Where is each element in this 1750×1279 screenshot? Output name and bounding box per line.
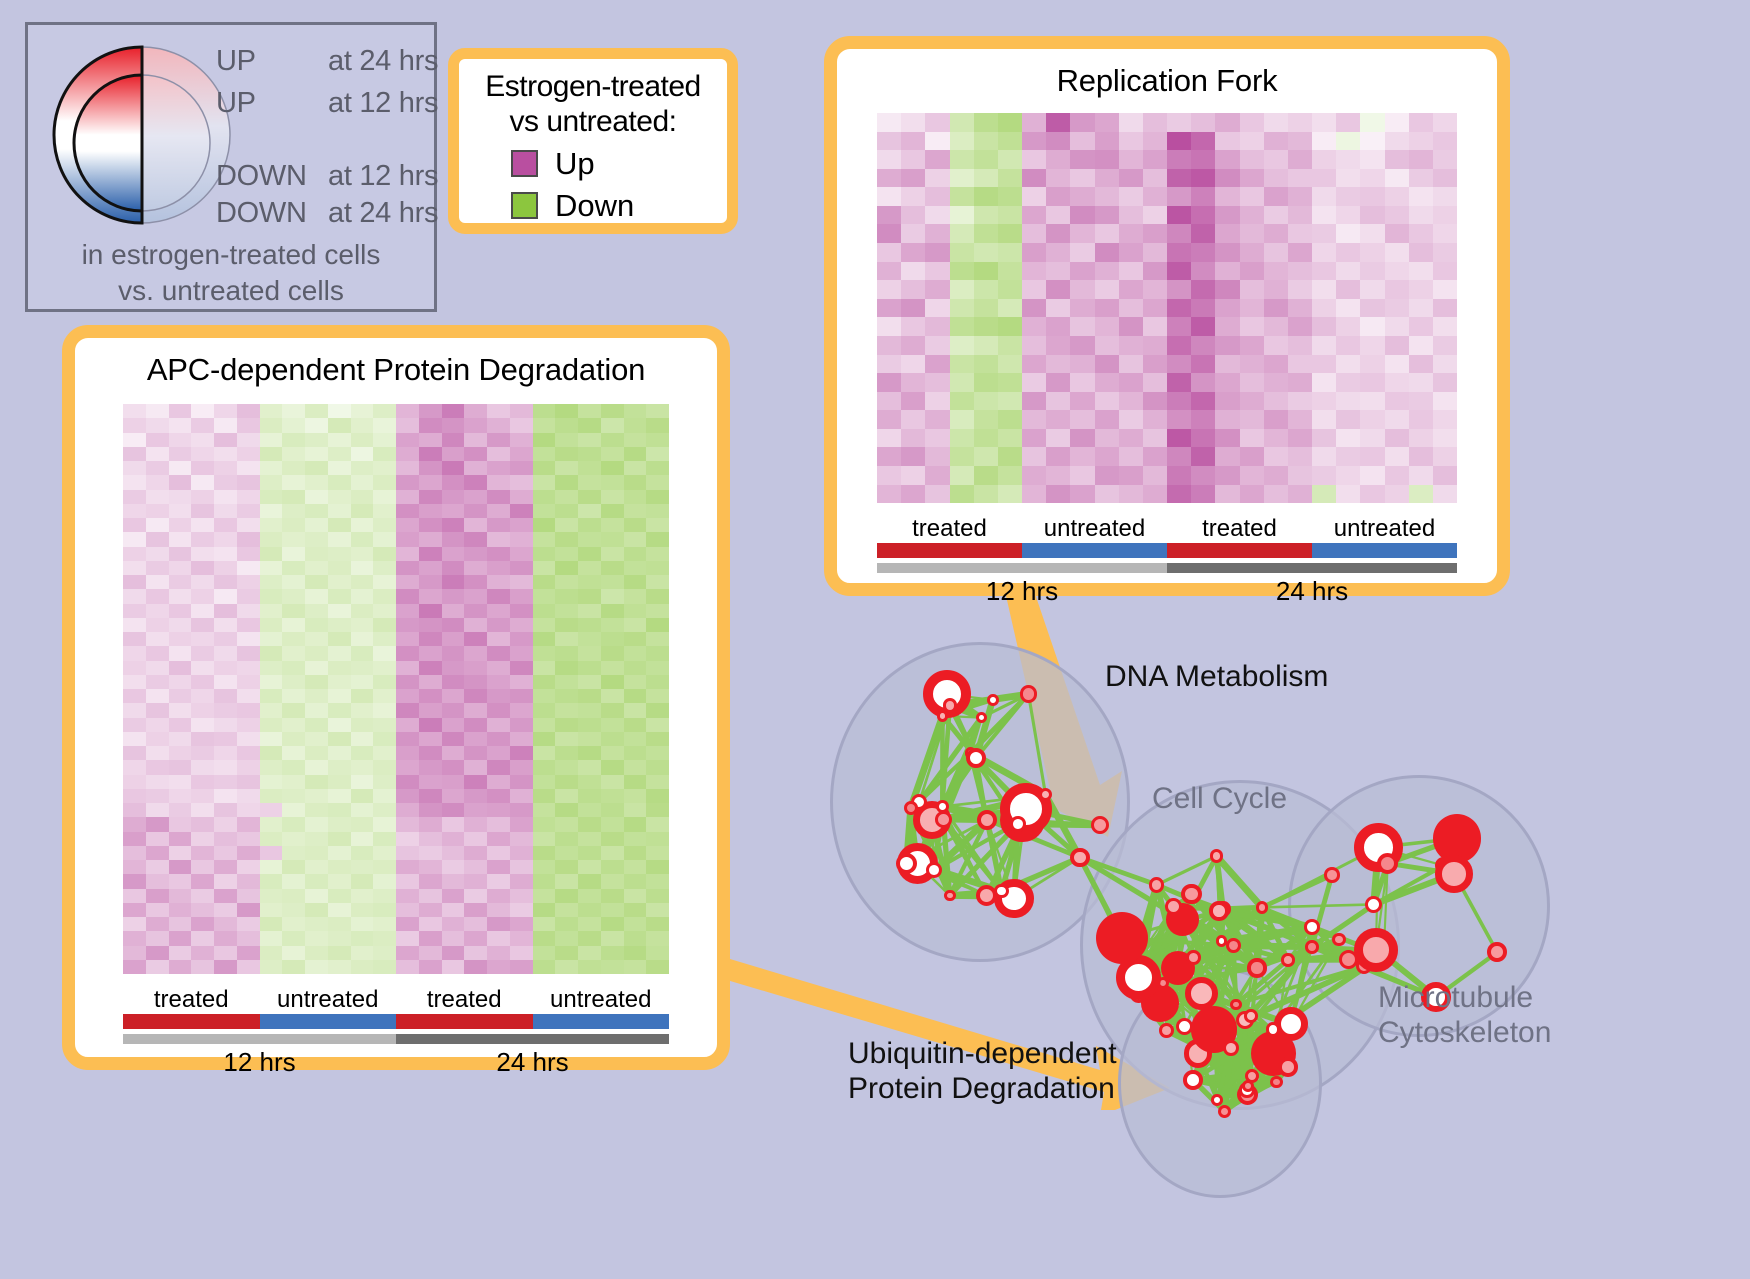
heatmap-cell <box>260 561 283 575</box>
heatmap-cell <box>555 618 578 632</box>
heatmap-cell <box>464 931 487 945</box>
heatmap-cell <box>146 689 169 703</box>
heatmap-cell <box>510 589 533 603</box>
heatmap-cell <box>1336 280 1360 299</box>
network-node[interactable] <box>1281 953 1294 966</box>
heatmap-cell <box>237 632 260 646</box>
heatmap-cell <box>1167 392 1191 411</box>
heatmap-cell <box>1288 373 1312 392</box>
heatmap-cell <box>1288 485 1312 504</box>
heatmap-cell <box>396 903 419 917</box>
heatmap-cell <box>1046 150 1070 169</box>
heatmap-cell <box>1240 262 1264 281</box>
network-node[interactable] <box>1149 877 1164 892</box>
heatmap-cell <box>1240 299 1264 318</box>
heatmap-cell <box>464 775 487 789</box>
heatmap-cell <box>1167 336 1191 355</box>
heatmap-cell <box>487 632 510 646</box>
heatmap-cell <box>533 589 556 603</box>
heatmap-cell <box>925 132 949 151</box>
condition-bar-segment <box>260 1014 397 1029</box>
network-node[interactable] <box>1256 901 1269 914</box>
heatmap-cell <box>1409 317 1433 336</box>
network-node[interactable] <box>1242 1080 1254 1092</box>
condition-label: untreated <box>1312 515 1457 543</box>
heatmap-cell <box>305 661 328 675</box>
heatmap-cell <box>1288 262 1312 281</box>
heatmap-cell <box>146 775 169 789</box>
heatmap-cell <box>1288 355 1312 374</box>
network-node[interactable] <box>935 811 952 828</box>
heatmap-cell <box>260 917 283 931</box>
heatmap-cell <box>1215 150 1239 169</box>
heatmap-cell <box>1022 187 1046 206</box>
heatmap-cell <box>123 889 146 903</box>
heatmap-cell <box>328 732 351 746</box>
network-node[interactable] <box>1010 816 1026 832</box>
timepoint-bar-segment <box>123 1034 396 1044</box>
network-node[interactable] <box>1435 855 1473 893</box>
heatmap-cell <box>646 860 669 874</box>
heatmap-cell <box>1360 169 1384 188</box>
heatmap-cell <box>328 746 351 760</box>
condition-labels-replication-fork: treated untreated treated untreated <box>877 515 1457 543</box>
heatmap-cell <box>442 675 465 689</box>
heatmap-row <box>123 760 669 774</box>
heatmap-cell <box>1240 187 1264 206</box>
heatmap-cell <box>396 433 419 447</box>
heatmap-cell <box>419 504 442 518</box>
network-node[interactable] <box>1226 938 1241 953</box>
heatmap-cell <box>624 433 647 447</box>
network-node[interactable] <box>1270 1076 1282 1088</box>
heatmap-cell <box>351 632 374 646</box>
heatmap-cell <box>1215 299 1239 318</box>
heatmap-cell <box>464 547 487 561</box>
heatmap-cell <box>260 889 283 903</box>
heatmap-cell <box>169 661 192 675</box>
heatmap-cell <box>237 461 260 475</box>
network-node[interactable] <box>1159 1023 1174 1038</box>
heatmap-cell <box>373 433 396 447</box>
timepoint-label: 12 hrs <box>123 1047 396 1078</box>
heatmap-cell <box>214 874 237 888</box>
heatmap-cell <box>328 604 351 618</box>
heatmap-cell <box>901 243 925 262</box>
heatmap-cell <box>237 504 260 518</box>
heatmap-cell <box>974 262 998 281</box>
heatmap-cell <box>974 392 998 411</box>
heatmap-cell <box>191 518 214 532</box>
heatmap-cell <box>282 504 305 518</box>
heatmap-cell <box>487 917 510 931</box>
ring-diagram <box>50 43 235 228</box>
heatmap-cell <box>191 632 214 646</box>
heatmap-cell <box>555 960 578 974</box>
heatmap-cell <box>123 832 146 846</box>
heatmap-cell <box>1215 355 1239 374</box>
network-node[interactable] <box>1230 999 1241 1010</box>
heatmap-cell <box>877 466 901 485</box>
heatmap-cell <box>442 504 465 518</box>
network-node[interactable] <box>1070 848 1090 868</box>
heatmap-cell <box>877 447 901 466</box>
heatmap-row <box>123 504 669 518</box>
condition-bar-segment <box>1167 543 1312 558</box>
heatmap-row <box>123 675 669 689</box>
heatmap-cell <box>442 646 465 660</box>
heatmap-cell <box>1022 243 1046 262</box>
heatmap-cell <box>396 689 419 703</box>
key-footer-line2: vs. untreated cells <box>28 273 434 309</box>
heatmap-row <box>877 317 1457 336</box>
heatmap-cell <box>533 433 556 447</box>
heatmap-cell <box>1312 243 1336 262</box>
heatmap-cell <box>351 604 374 618</box>
heatmap-cell <box>1215 262 1239 281</box>
network-node[interactable] <box>1354 928 1398 972</box>
heatmap-cell <box>877 336 901 355</box>
panel-title-replication-fork: Replication Fork <box>837 63 1497 99</box>
heatmap-cell <box>646 931 669 945</box>
condition-label: treated <box>123 986 260 1014</box>
heatmap-cell <box>464 418 487 432</box>
heatmap-cell <box>601 461 624 475</box>
network-node[interactable] <box>976 712 987 723</box>
heatmap-cell <box>328 447 351 461</box>
heatmap-cell <box>533 846 556 860</box>
timepoint-label: 24 hrs <box>396 1047 669 1078</box>
heatmap-cell <box>1240 447 1264 466</box>
condition-label: treated <box>877 515 1022 543</box>
heatmap-cell <box>1167 299 1191 318</box>
heatmap-cell <box>533 518 556 532</box>
heatmap-cell <box>901 429 925 448</box>
heatmap-cell <box>396 860 419 874</box>
heatmap-cell <box>487 689 510 703</box>
heatmap-cell <box>1095 299 1119 318</box>
heatmap-cell <box>998 224 1022 243</box>
heatmap-cell <box>533 860 556 874</box>
heatmap-cell <box>419 732 442 746</box>
heatmap-cell <box>510 946 533 960</box>
heatmap-cell <box>282 689 305 703</box>
heatmap-cell <box>1143 485 1167 504</box>
heatmap-cell <box>442 589 465 603</box>
heatmap-cell <box>555 703 578 717</box>
heatmap-cell <box>237 903 260 917</box>
heatmap-cell <box>510 518 533 532</box>
network-node[interactable] <box>1211 1094 1223 1106</box>
heatmap-cell <box>123 903 146 917</box>
network-node[interactable] <box>1183 1070 1203 1090</box>
heatmap-cell <box>146 817 169 831</box>
heatmap-cell <box>328 803 351 817</box>
heatmap-cell <box>1312 485 1336 504</box>
heatmap-cell <box>214 832 237 846</box>
heatmap-cell <box>646 575 669 589</box>
heatmap-cell <box>305 404 328 418</box>
heatmap-cell <box>1385 410 1409 429</box>
network-node[interactable] <box>1247 958 1266 977</box>
timepoint-labels-apc: 12 hrs 24 hrs <box>123 1047 669 1078</box>
heatmap-cell <box>998 113 1022 132</box>
heatmap-cell <box>601 547 624 561</box>
heatmap-cell <box>925 187 949 206</box>
heatmap-cell <box>328 618 351 632</box>
heatmap-cell <box>1433 466 1457 485</box>
heatmap-cell <box>1119 355 1143 374</box>
heatmap-cell <box>351 931 374 945</box>
heatmap-cell <box>191 874 214 888</box>
heatmap-cell <box>601 846 624 860</box>
network-node[interactable] <box>1223 1040 1239 1056</box>
heatmap-cell <box>646 732 669 746</box>
network-node[interactable] <box>1091 816 1109 834</box>
network-node[interactable] <box>1244 1009 1258 1023</box>
timepoint-bar-segment <box>396 1034 669 1044</box>
heatmap-cell <box>214 703 237 717</box>
heatmap-cell <box>555 931 578 945</box>
heatmap-cell <box>1385 280 1409 299</box>
heatmap-cell <box>282 903 305 917</box>
heatmap-cell <box>1240 429 1264 448</box>
heatmap-cell <box>487 490 510 504</box>
heatmap-cell <box>419 461 442 475</box>
heatmap-cell <box>237 589 260 603</box>
heatmap-cell <box>1360 280 1384 299</box>
heatmap-cell <box>1070 317 1094 336</box>
heatmap-cell <box>282 447 305 461</box>
network-node[interactable] <box>1304 919 1320 935</box>
key-ring-label-3: DOWN <box>216 197 307 230</box>
heatmap-cell <box>646 718 669 732</box>
heatmap-cell <box>1143 187 1167 206</box>
heatmap-cell <box>533 404 556 418</box>
heatmap-cell <box>237 746 260 760</box>
heatmap-cell <box>487 547 510 561</box>
network-node[interactable] <box>1278 1057 1298 1077</box>
heatmap-cell <box>191 418 214 432</box>
heatmap-cell <box>1167 169 1191 188</box>
heatmap-cell <box>1215 280 1239 299</box>
heatmap-cell <box>578 703 601 717</box>
heatmap-row <box>877 447 1457 466</box>
heatmap-cell <box>510 846 533 860</box>
heatmap-cell <box>1070 187 1094 206</box>
heatmap-cell <box>169 760 192 774</box>
heatmap-cell <box>282 746 305 760</box>
heatmap-cell <box>578 746 601 760</box>
heatmap-cell <box>373 775 396 789</box>
heatmap-cell <box>1336 224 1360 243</box>
heatmap-cell <box>533 903 556 917</box>
heatmap-cell <box>624 646 647 660</box>
heatmap-cell <box>464 718 487 732</box>
heatmap-cell <box>1360 392 1384 411</box>
heatmap-row <box>877 485 1457 504</box>
heatmap-cell <box>305 917 328 931</box>
heatmap-cell <box>1360 447 1384 466</box>
heatmap-cell <box>1360 150 1384 169</box>
heatmap-cell <box>974 113 998 132</box>
network-node[interactable] <box>937 710 948 721</box>
heatmap-cell <box>646 604 669 618</box>
heatmap-cell <box>123 604 146 618</box>
heatmap-cell <box>373 532 396 546</box>
network-node[interactable] <box>944 890 956 902</box>
heatmap-cell <box>601 917 624 931</box>
network-node[interactable] <box>904 801 918 815</box>
network-node[interactable] <box>987 694 999 706</box>
heatmap-cell <box>260 547 283 561</box>
heatmap-cell <box>282 675 305 689</box>
heatmap-cell <box>1046 429 1070 448</box>
heatmap-cell <box>373 832 396 846</box>
key-ring-label-2: DOWN <box>216 160 307 193</box>
network-node[interactable] <box>1181 884 1202 905</box>
heatmap-cell <box>214 675 237 689</box>
heatmap-cell <box>925 262 949 281</box>
heatmap-cell <box>578 732 601 746</box>
heatmap-cell <box>1240 280 1264 299</box>
heatmap-cell <box>624 532 647 546</box>
heatmap-cell <box>214 775 237 789</box>
network-node[interactable] <box>1266 1022 1280 1036</box>
heatmap-cell <box>646 832 669 846</box>
heatmap-cell <box>1433 224 1457 243</box>
heatmap-cell <box>1167 429 1191 448</box>
network-node[interactable] <box>1186 950 1201 965</box>
heatmap-cell <box>925 392 949 411</box>
heatmap-cell <box>351 532 374 546</box>
heatmap-cell <box>1070 373 1094 392</box>
heatmap-cell <box>1070 262 1094 281</box>
heatmap-cell <box>146 803 169 817</box>
heatmap-cell <box>1264 206 1288 225</box>
network-node[interactable] <box>1324 867 1339 882</box>
heatmap-cell <box>214 889 237 903</box>
network-node[interactable] <box>1165 898 1182 915</box>
network-node[interactable] <box>1305 940 1319 954</box>
network-node[interactable] <box>896 853 917 874</box>
heatmap-cell <box>123 703 146 717</box>
network-node[interactable] <box>1209 901 1228 920</box>
heatmap-cell <box>373 746 396 760</box>
heatmap-cell <box>1360 429 1384 448</box>
cluster-label-ubiquitin: Ubiquitin-dependent Protein Degradation <box>848 1036 1117 1107</box>
heatmap-cell <box>487 589 510 603</box>
heatmap-cell <box>925 336 949 355</box>
heatmap-cell <box>901 355 925 374</box>
heatmap-row <box>123 547 669 561</box>
heatmap-cell <box>510 646 533 660</box>
heatmap-cell <box>146 889 169 903</box>
heatmap-cell <box>169 604 192 618</box>
heatmap-row <box>877 429 1457 448</box>
heatmap-cell <box>373 547 396 561</box>
heatmap-cell <box>950 392 974 411</box>
heatmap-cell <box>510 789 533 803</box>
heatmap-cell <box>260 518 283 532</box>
heatmap-cell <box>1022 485 1046 504</box>
heatmap-cell <box>601 874 624 888</box>
heatmap-cell <box>351 775 374 789</box>
heatmap-cell <box>214 475 237 489</box>
heatmap-cell <box>510 575 533 589</box>
network-node[interactable] <box>1185 977 1218 1010</box>
heatmap-cell <box>601 746 624 760</box>
heatmap-cell <box>1119 280 1143 299</box>
condition-color-bar-apc <box>123 1014 669 1029</box>
heatmap-row <box>123 889 669 903</box>
heatmap-cell <box>1409 262 1433 281</box>
heatmap-cell <box>351 846 374 860</box>
heatmap-cell <box>1240 132 1264 151</box>
heatmap-cell <box>260 874 283 888</box>
heatmap-cell <box>1288 169 1312 188</box>
heatmap-cell <box>1409 280 1433 299</box>
heatmap-cell <box>191 931 214 945</box>
network-node[interactable] <box>977 810 997 830</box>
heatmap-cell <box>237 547 260 561</box>
heatmap-cell <box>442 547 465 561</box>
heatmap-cell <box>214 518 237 532</box>
heatmap-cell <box>328 917 351 931</box>
heatmap-cell <box>396 589 419 603</box>
heatmap-cell <box>578 917 601 931</box>
heatmap-cell <box>260 832 283 846</box>
heatmap-cell <box>396 817 419 831</box>
heatmap-cell <box>877 280 901 299</box>
heatmap-cell <box>260 775 283 789</box>
heatmap-cell <box>442 732 465 746</box>
network-node[interactable] <box>1332 933 1346 947</box>
heatmap-cell <box>419 860 442 874</box>
heatmap-cell <box>214 661 237 675</box>
heatmap-cell <box>1360 410 1384 429</box>
heatmap-cell <box>351 746 374 760</box>
network-node[interactable] <box>1377 853 1398 874</box>
heatmap-cell <box>624 561 647 575</box>
heatmap-cell <box>646 889 669 903</box>
network-node[interactable] <box>1096 912 1148 964</box>
heatmap-cell <box>464 732 487 746</box>
heatmap-cell <box>1385 169 1409 188</box>
heatmap-cell <box>601 689 624 703</box>
heatmap-cell <box>925 485 949 504</box>
heatmap-cell <box>1336 206 1360 225</box>
heatmap-cell <box>1312 299 1336 318</box>
heatmap-cell <box>877 224 901 243</box>
heatmap-cell <box>877 373 901 392</box>
heatmap-cell <box>1070 485 1094 504</box>
heatmap-cell <box>578 903 601 917</box>
heatmap-cell <box>601 703 624 717</box>
heatmap-cell <box>1288 447 1312 466</box>
heatmap-cell <box>419 917 442 931</box>
heatmap-cell <box>191 889 214 903</box>
network-node[interactable] <box>1487 942 1507 962</box>
heatmap-cell <box>123 803 146 817</box>
heatmap-cell <box>123 746 146 760</box>
network-node[interactable] <box>966 748 986 768</box>
heatmap-cell <box>1264 317 1288 336</box>
heatmap-cell <box>1167 262 1191 281</box>
heatmap-cell <box>1385 206 1409 225</box>
heatmap-cell <box>925 447 949 466</box>
heatmap-cell <box>1433 373 1457 392</box>
